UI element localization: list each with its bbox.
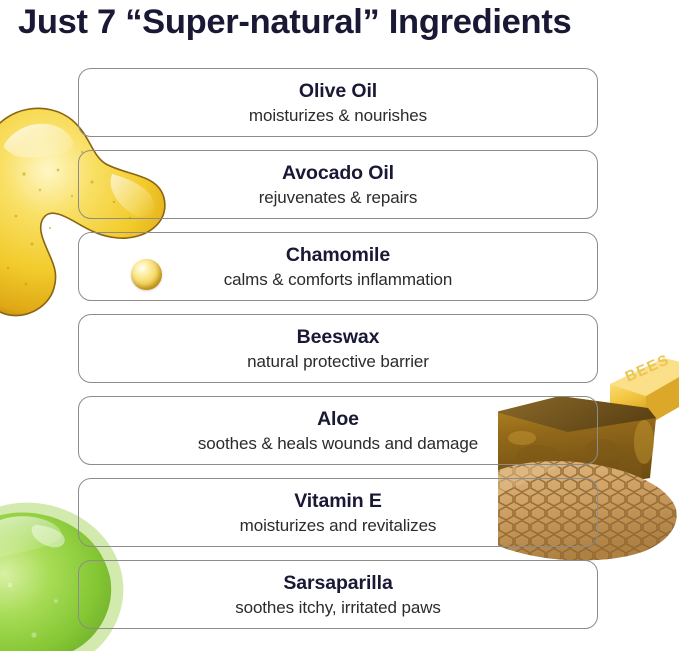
ingredient-card-sarsaparilla[interactable]: Sarsaparilla soothes itchy, irritated pa… [78, 560, 598, 629]
ingredient-name: Vitamin E [294, 489, 382, 513]
ingredient-card-vitamin-e[interactable]: Vitamin E moisturizes and revitalizes [78, 478, 598, 547]
ingredient-description: moisturizes & nourishes [249, 104, 427, 127]
ingredient-name: Chamomile [286, 243, 390, 267]
ingredient-description: soothes & heals wounds and damage [198, 432, 478, 455]
ingredient-card-chamomile[interactable]: Chamomile calms & comforts inflammation [78, 232, 598, 301]
ingredient-card-olive-oil[interactable]: Olive Oil moisturizes & nourishes [78, 68, 598, 137]
page-title: Just 7 “Super-natural” Ingredients [18, 0, 668, 48]
ingredient-list: Olive Oil moisturizes & nourishes Avocad… [78, 68, 598, 629]
ingredient-name: Sarsaparilla [283, 571, 392, 595]
ingredient-name: Aloe [317, 407, 359, 431]
ingredient-description: natural protective barrier [247, 350, 429, 373]
svg-text:BEES: BEES [623, 352, 673, 386]
ingredient-card-avocado-oil[interactable]: Avocado Oil rejuvenates & repairs [78, 150, 598, 219]
infographic-page: Just 7 “Super-natural” Ingredients [0, 0, 679, 651]
ingredient-description: moisturizes and revitalizes [240, 514, 437, 537]
ingredient-card-aloe[interactable]: Aloe soothes & heals wounds and damage [78, 396, 598, 465]
ingredient-name: Beeswax [297, 325, 380, 349]
ingredient-name: Avocado Oil [282, 161, 394, 185]
ingredient-description: rejuvenates & repairs [259, 186, 418, 209]
ingredient-description: calms & comforts inflammation [224, 268, 453, 291]
ingredient-description: soothes itchy, irritated paws [235, 596, 441, 619]
ingredient-card-beeswax[interactable]: Beeswax natural protective barrier [78, 314, 598, 383]
ingredient-name: Olive Oil [299, 79, 377, 103]
